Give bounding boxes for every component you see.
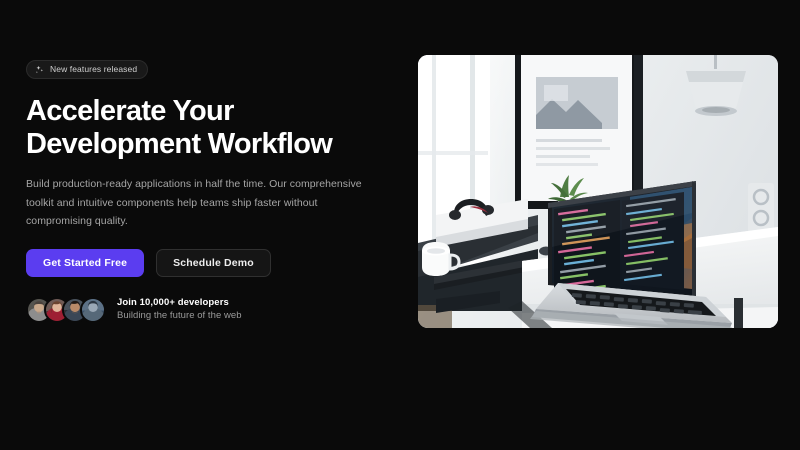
headline-line-1: Accelerate Your bbox=[26, 95, 376, 128]
sparkle-icon bbox=[35, 65, 44, 74]
office-desk-laptop-photo bbox=[418, 55, 778, 328]
avatar-stack bbox=[26, 297, 106, 323]
badge-label: New features released bbox=[50, 65, 137, 74]
avatar-person-4 bbox=[80, 297, 106, 323]
social-proof-title: Join 10,000+ developers bbox=[117, 297, 242, 310]
page-title: Accelerate Your Development Workflow bbox=[26, 95, 376, 161]
headline-line-2: Development Workflow bbox=[26, 128, 376, 161]
schedule-demo-button[interactable]: Schedule Demo bbox=[156, 249, 271, 277]
hero-description: Build production-ready applications in h… bbox=[26, 175, 362, 231]
social-proof-subtitle: Building the future of the web bbox=[117, 310, 242, 323]
new-features-badge[interactable]: New features released bbox=[26, 60, 148, 79]
get-started-button[interactable]: Get Started Free bbox=[26, 249, 144, 277]
cta-button-row: Get Started Free Schedule Demo bbox=[26, 249, 376, 277]
hero-copy-column: New features released Accelerate Your De… bbox=[26, 60, 376, 323]
hero-section: New features released Accelerate Your De… bbox=[0, 0, 800, 450]
social-proof: Join 10,000+ developers Building the fut… bbox=[26, 297, 376, 323]
social-proof-text: Join 10,000+ developers Building the fut… bbox=[117, 297, 242, 323]
